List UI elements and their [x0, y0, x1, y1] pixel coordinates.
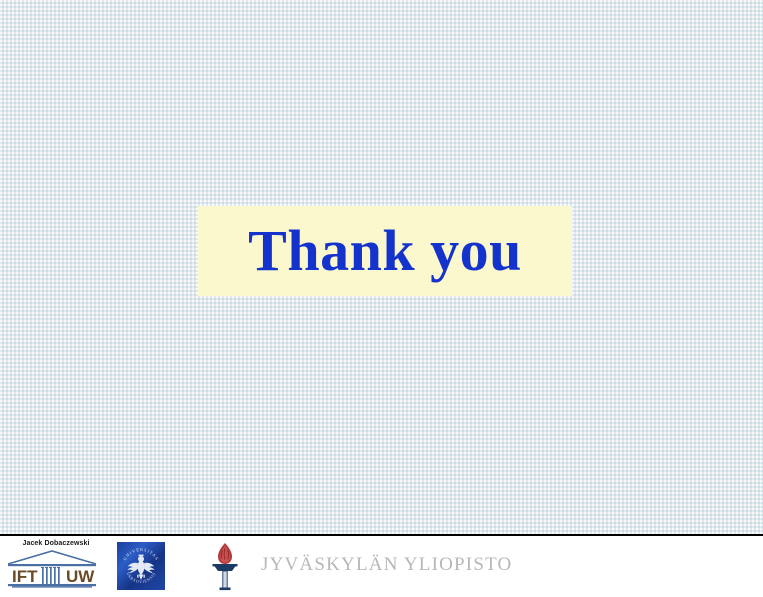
- jyvaskyla-wordmark: JYVÄSKYLÄN YLIOPISTO: [261, 554, 512, 576]
- torch-icon: [203, 540, 247, 592]
- ift-label: IFT: [12, 567, 38, 586]
- eagle-icon: UNIVERSITAS VARSOVIENSIS: [117, 542, 165, 590]
- title-callout-box: Thank you: [198, 206, 572, 296]
- author-name: Jacek Dobaczewski: [14, 540, 98, 547]
- ift-uw-logo: Jacek Dobaczewski: [6, 540, 98, 590]
- slide-footer: Jacek Dobaczewski: [0, 536, 763, 597]
- ift-uw-building-icon: IFT UW: [6, 550, 98, 590]
- uw-label: UW: [66, 567, 95, 586]
- page-title: Thank you: [248, 222, 522, 280]
- jyvaskyla-university-logo: JYVÄSKYLÄN YLIOPISTO: [203, 540, 465, 594]
- university-of-warsaw-emblem: UNIVERSITAS VARSOVIENSIS: [117, 542, 165, 590]
- presentation-slide: Thank you Jacek Dobaczewski: [0, 0, 763, 597]
- slide-canvas: Thank you: [0, 0, 763, 536]
